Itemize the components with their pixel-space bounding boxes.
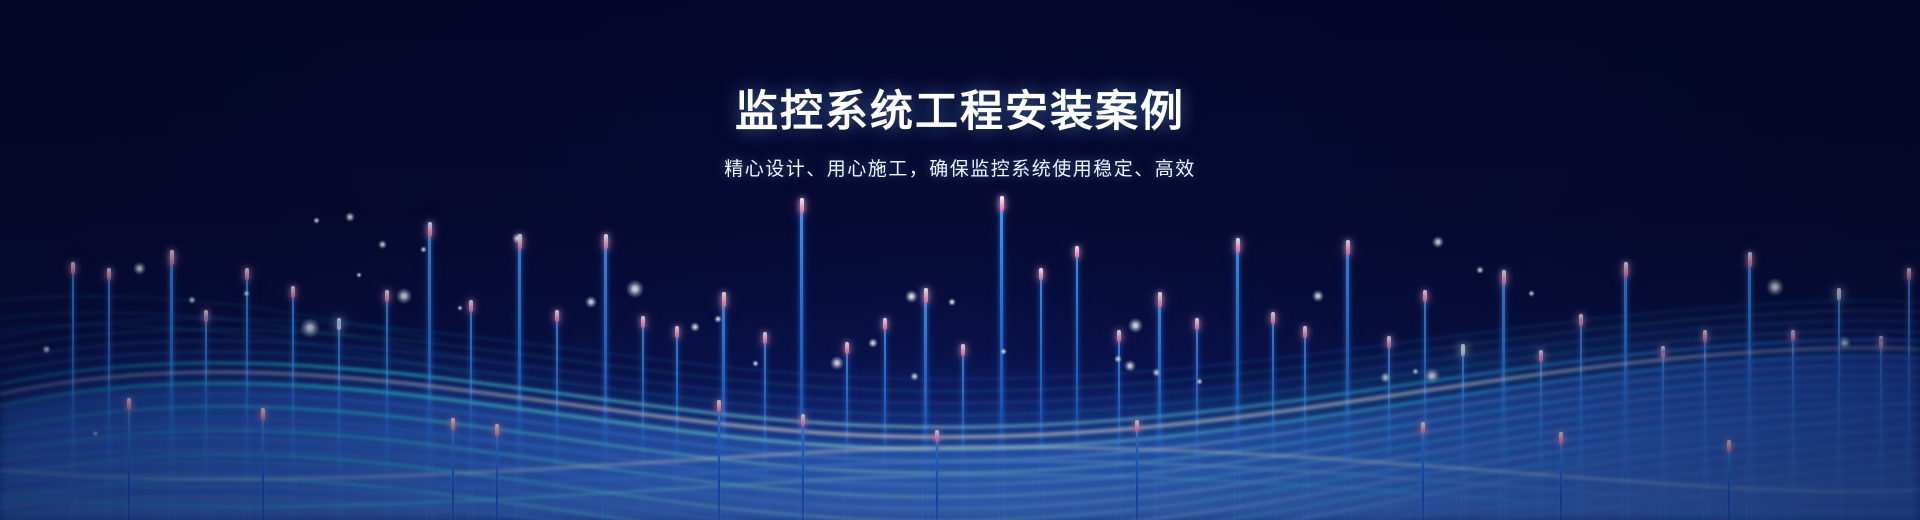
- light-bar: [262, 408, 264, 520]
- light-bar: [496, 424, 498, 520]
- light-bar: [452, 418, 454, 520]
- banner-subtitle: 精心设计、用心施工，确保监控系统使用稳定、高效: [0, 154, 1920, 181]
- light-bar: [1560, 432, 1562, 520]
- light-bar: [1422, 422, 1424, 520]
- light-bar: [1728, 440, 1730, 520]
- light-bars-front: [0, 0, 1920, 520]
- light-bar: [1136, 420, 1138, 520]
- light-bar: [718, 400, 720, 520]
- banner-title: 监控系统工程安装案例: [0, 88, 1920, 136]
- light-bar: [936, 430, 938, 520]
- light-bar: [802, 414, 804, 520]
- banner-text-block: 监控系统工程安装案例 精心设计、用心施工，确保监控系统使用稳定、高效: [0, 88, 1920, 181]
- hero-banner: 监控系统工程安装案例 精心设计、用心施工，确保监控系统使用稳定、高效: [0, 0, 1920, 520]
- light-bar: [128, 398, 130, 520]
